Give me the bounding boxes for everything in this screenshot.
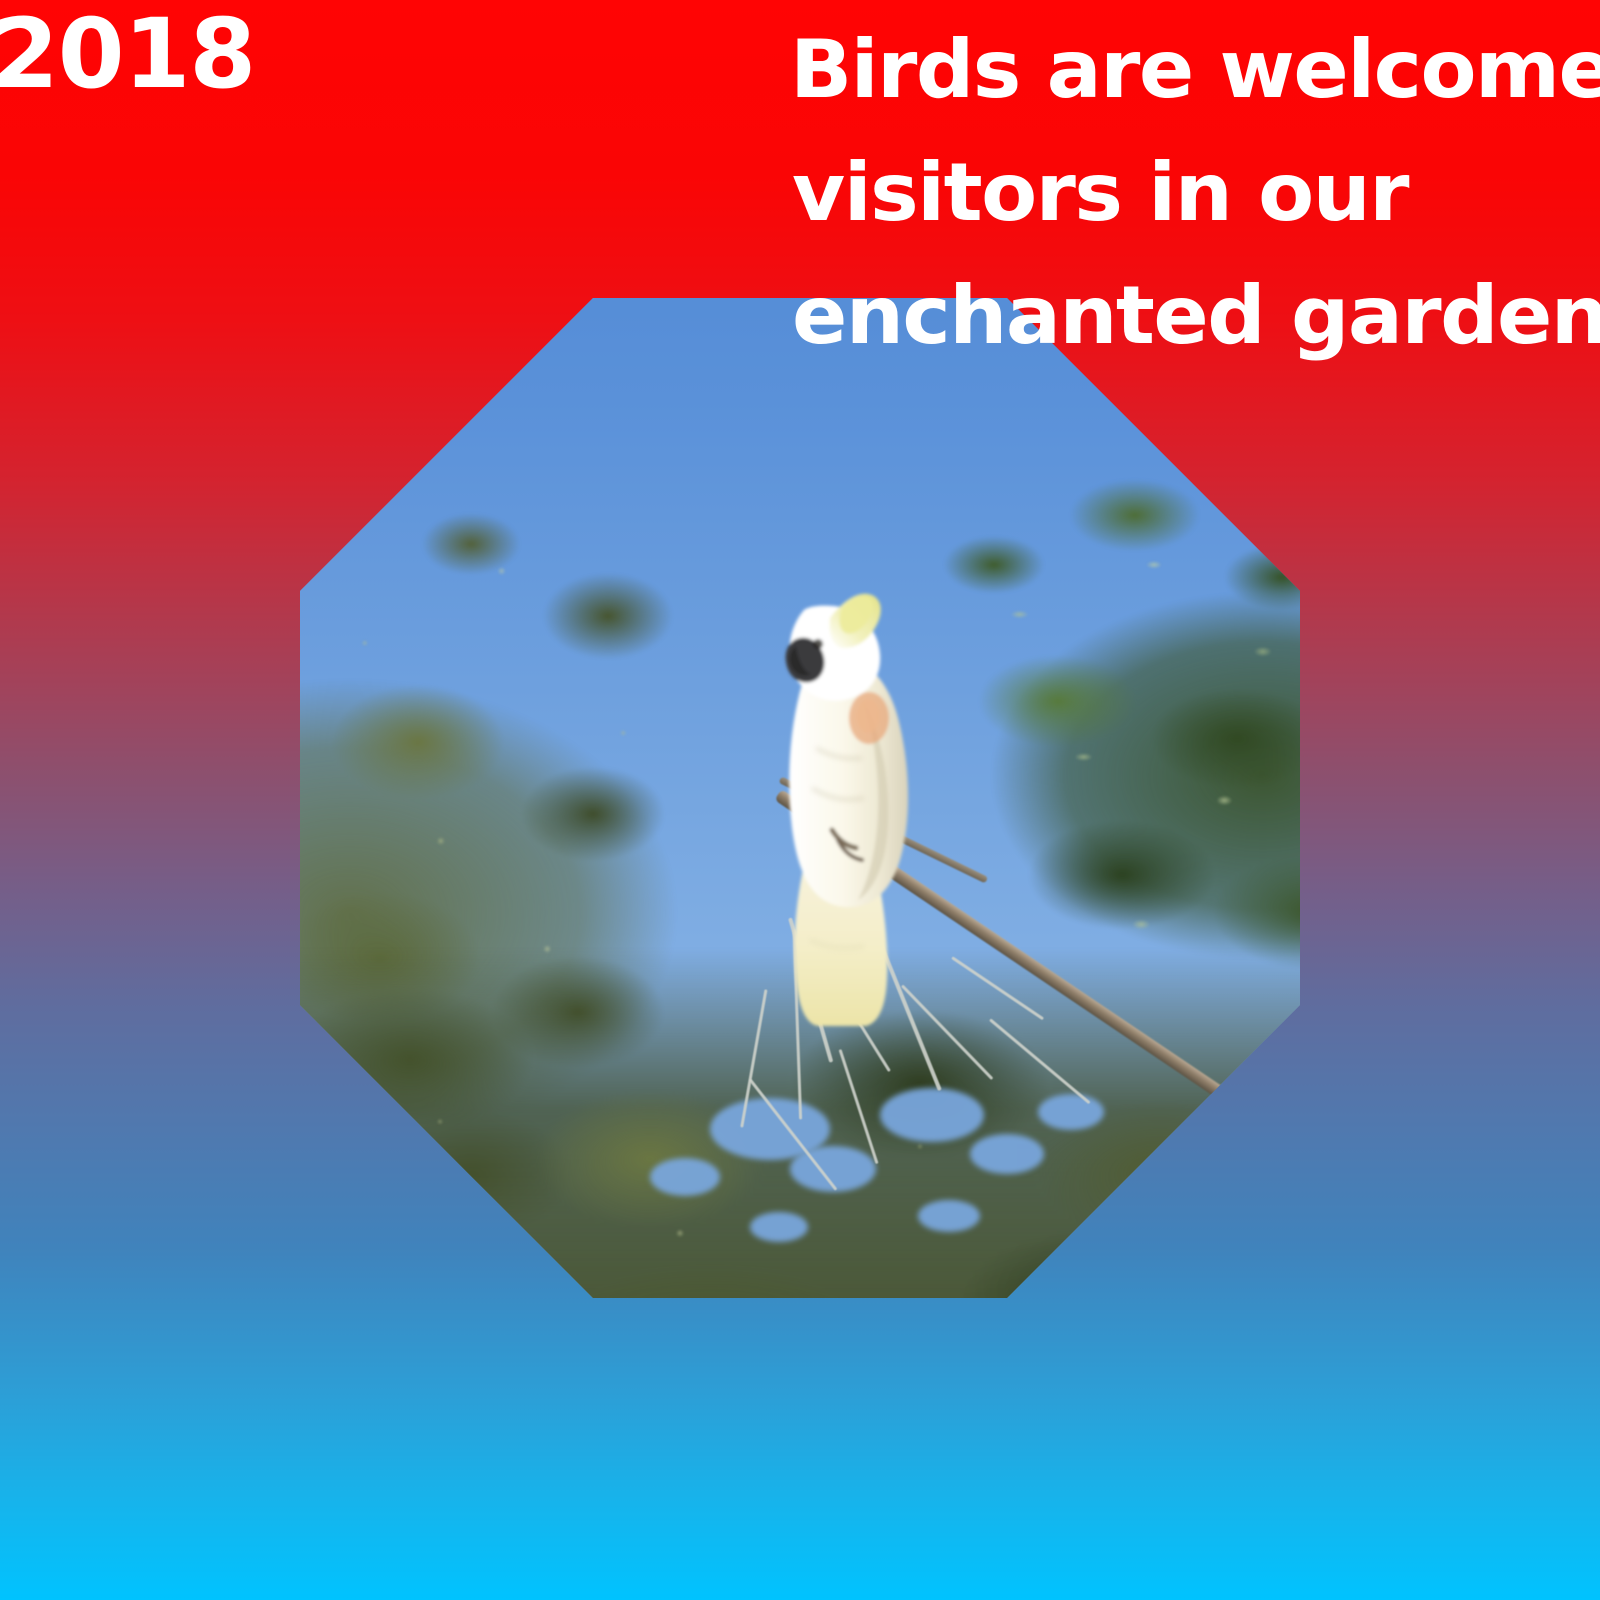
poster-canvas: 2018 Birds are welcome visitors in our e…	[0, 0, 1600, 1600]
headline-line-3: enchanted garden	[790, 254, 1600, 377]
headline-line-1: Birds are welcome	[790, 8, 1600, 131]
cockatoo-bird	[300, 298, 1300, 1298]
photo-diamond-inner	[300, 298, 1300, 1298]
headline-block: Birds are welcome visitors in our enchan…	[790, 8, 1590, 377]
headline-line-2: visitors in our	[790, 131, 1600, 254]
year-label: 2018	[0, 6, 255, 102]
cockatoo-photograph	[300, 298, 1300, 1298]
